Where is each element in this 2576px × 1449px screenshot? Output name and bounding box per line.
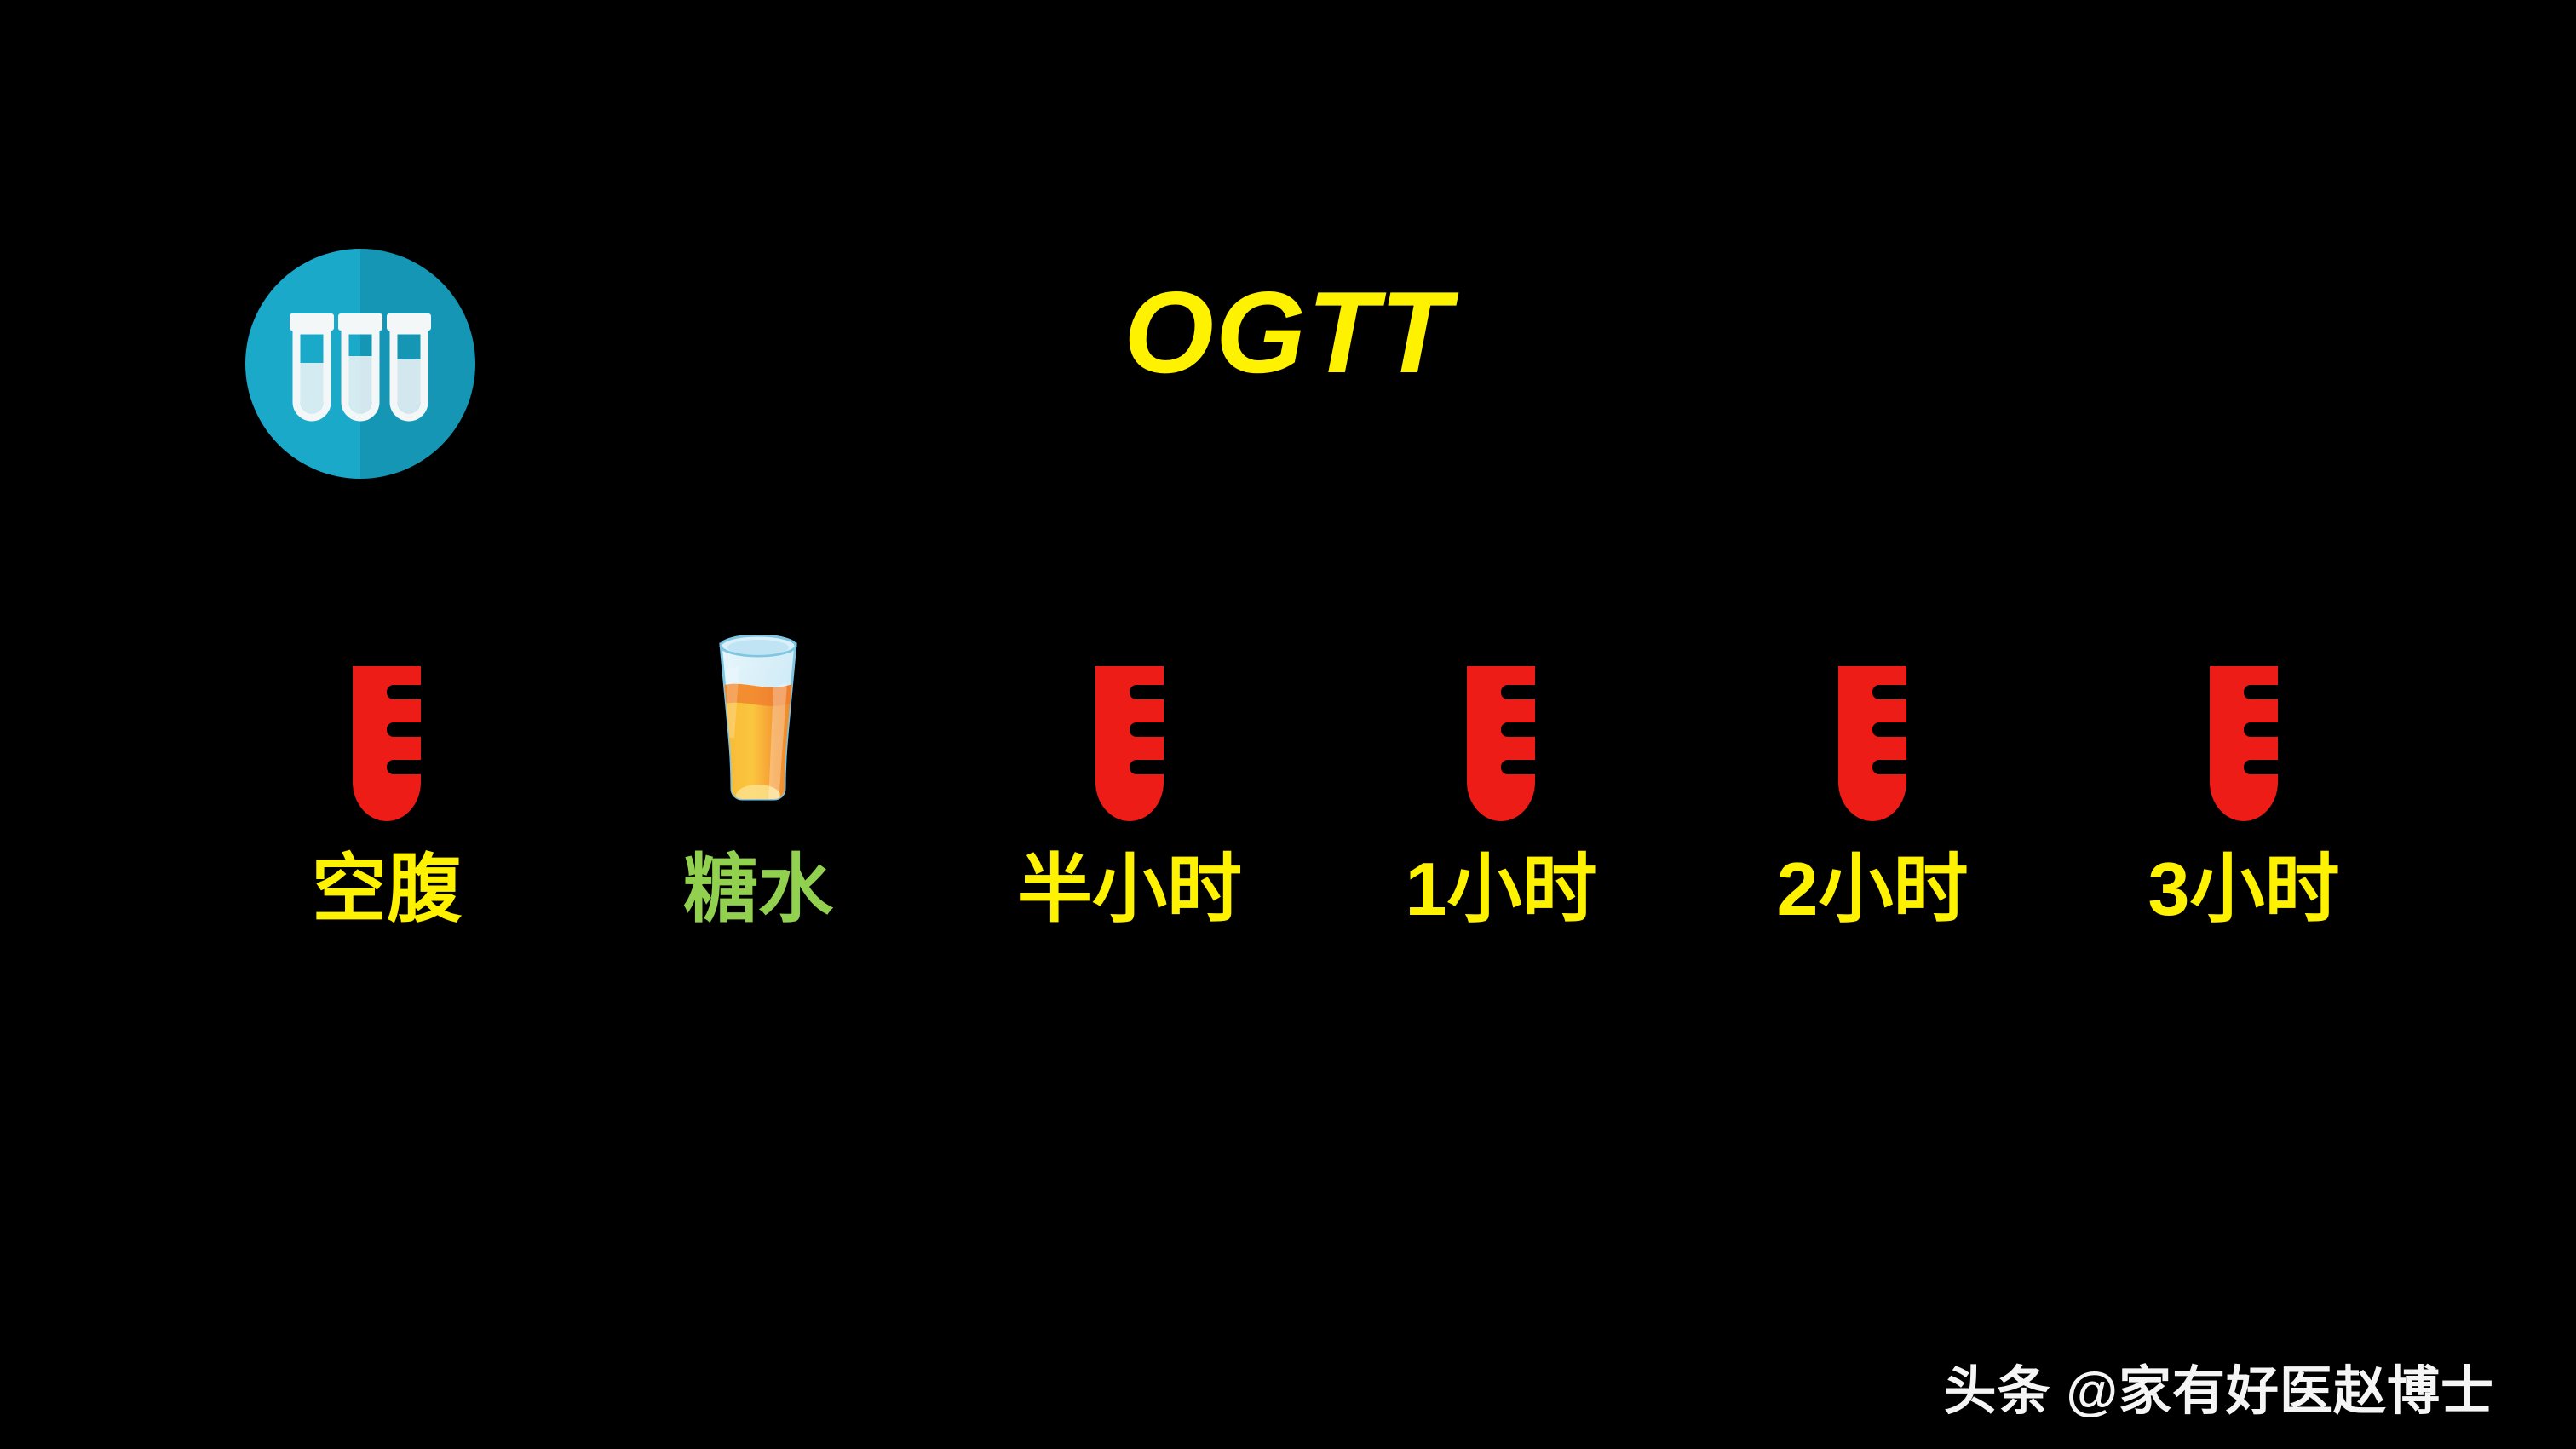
step-sugar-water: 糖水 [572, 630, 944, 929]
icon-slot [1463, 630, 1538, 821]
thermometer-icon [1092, 666, 1167, 821]
step-half-hour: 半小时 [944, 630, 1315, 929]
icon-slot [2206, 630, 2281, 821]
thermometer-icon [1835, 666, 1910, 821]
step-1-hour: 1小时 [1315, 630, 1687, 929]
page-title: OGTT [0, 274, 2576, 390]
ogtt-steps-row: 空腹 [201, 630, 2433, 929]
step-label: 空腹 [312, 850, 462, 929]
watermark-handle: @家有好医赵博士 [2067, 1366, 2494, 1418]
step-label: 半小时 [1017, 850, 1242, 929]
icon-slot [349, 630, 424, 821]
icon-slot [710, 630, 806, 821]
watermark: 头条 @家有好医赵博士 [1944, 1366, 2494, 1418]
step-3-hours: 3小时 [2058, 630, 2429, 929]
step-label: 1小时 [1406, 850, 1597, 929]
thermometer-icon [2206, 666, 2281, 821]
step-label: 3小时 [2148, 850, 2340, 929]
step-label: 2小时 [1777, 850, 1969, 929]
step-fasting: 空腹 [201, 630, 572, 929]
thermometer-icon [1463, 666, 1538, 821]
slide-canvas: OGTT 空腹 [0, 0, 2576, 1449]
step-label: 糖水 [683, 850, 833, 929]
icon-slot [1835, 630, 1910, 821]
watermark-brand: 头条 [1944, 1366, 2051, 1418]
icon-slot [1092, 630, 1167, 821]
step-2-hours: 2小时 [1687, 630, 2058, 929]
thermometer-icon [349, 666, 424, 821]
glass-of-sugar-water-icon [710, 635, 806, 821]
